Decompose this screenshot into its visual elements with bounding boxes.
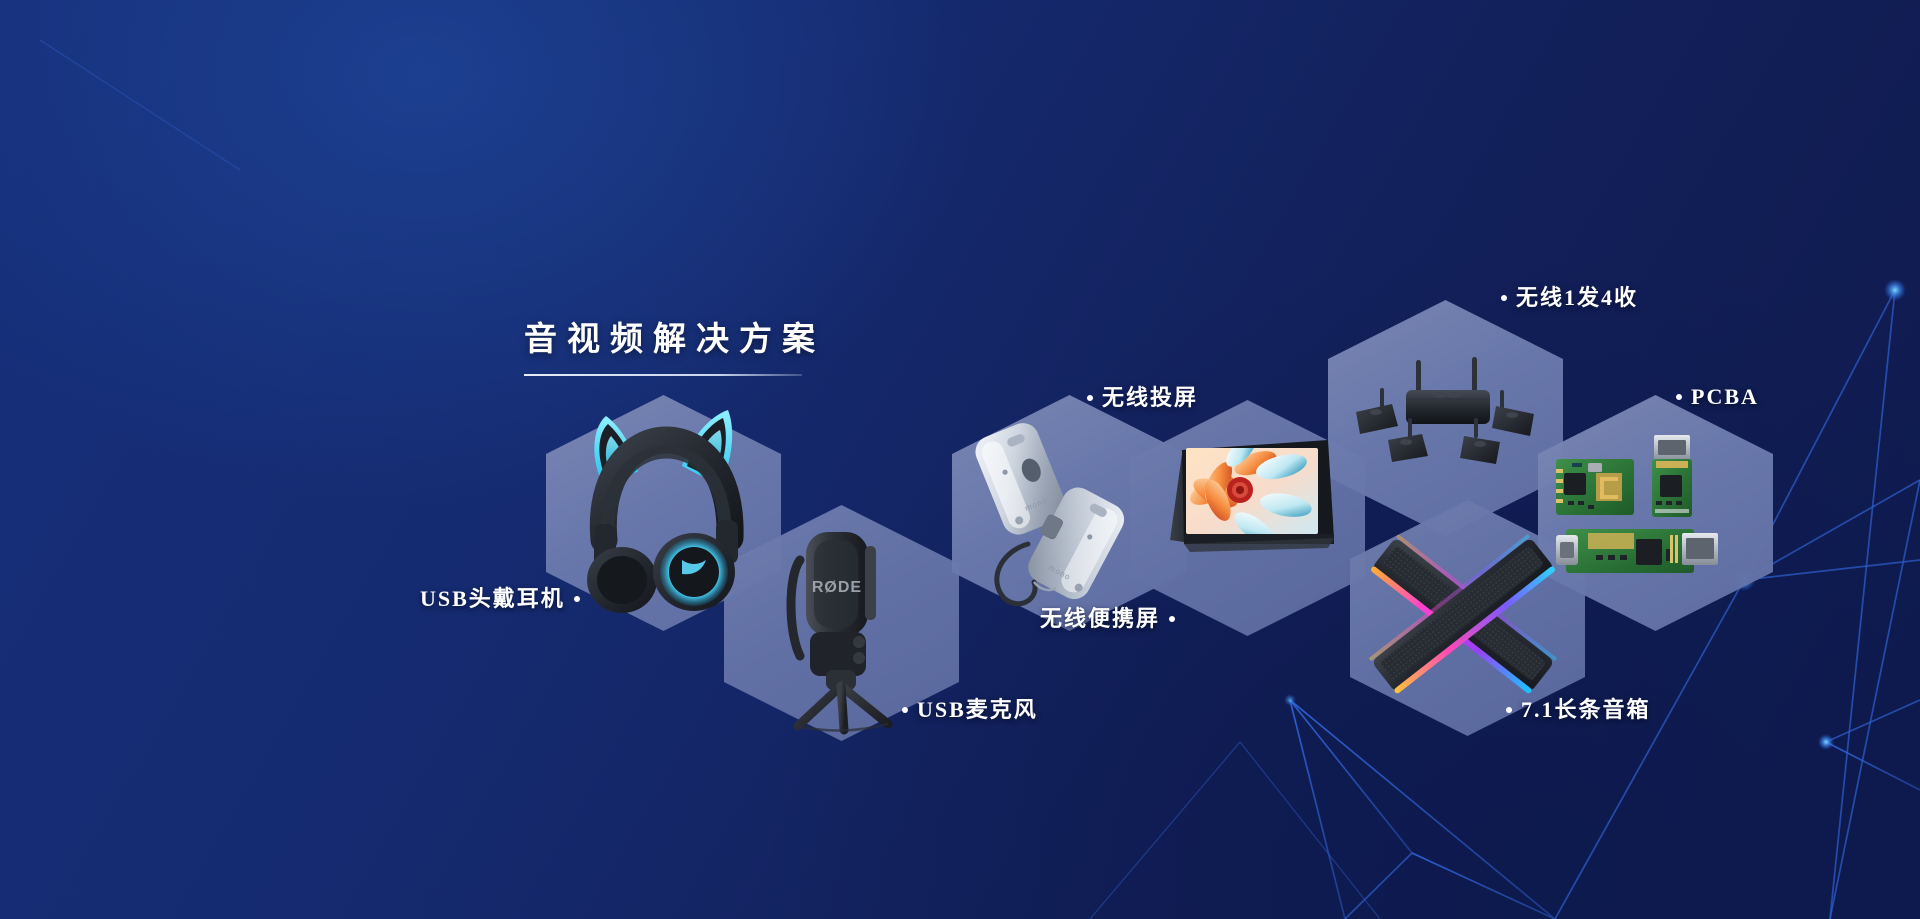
- bullet-dot-icon: [1087, 395, 1093, 401]
- product-label-wireless-portable-screen-text: 无线便携屏: [1040, 606, 1160, 631]
- product-label-soundbar-71-text: 7.1长条音箱: [1521, 697, 1651, 722]
- bullet-dot-icon: [902, 707, 908, 713]
- bullet-dot-icon: [1506, 707, 1512, 713]
- page-title-block: 音视频解决方案: [524, 312, 825, 376]
- bullet-dot-icon: [1676, 394, 1682, 400]
- product-label-wireless-casting[interactable]: 无线投屏: [1078, 380, 1198, 412]
- page-title: 音视频解决方案: [524, 312, 825, 360]
- product-label-usb-headset-text: USB头戴耳机: [420, 586, 565, 611]
- product-label-pcba[interactable]: PCBA: [1667, 384, 1759, 410]
- product-label-wireless-portable-screen[interactable]: 无线便携屏: [1040, 601, 1184, 633]
- product-label-soundbar-71[interactable]: 7.1长条音箱: [1497, 692, 1651, 724]
- banner-stage: 音视频解决方案: [0, 0, 1920, 919]
- bullet-dot-icon: [1169, 616, 1175, 622]
- bullet-dot-icon: [1501, 295, 1507, 301]
- product-label-pcba-text: PCBA: [1691, 384, 1759, 409]
- product-label-wireless-1t4r-text: 无线1发4收: [1516, 285, 1638, 310]
- bullet-dot-icon: [574, 596, 580, 602]
- product-label-wireless-casting-text: 无线投屏: [1102, 385, 1198, 410]
- product-label-usb-microphone[interactable]: USB麦克风: [893, 692, 1038, 724]
- product-label-usb-microphone-text: USB麦克风: [917, 697, 1038, 722]
- product-label-wireless-1t4r[interactable]: 无线1发4收: [1492, 280, 1638, 312]
- title-underline: [524, 374, 802, 376]
- product-label-usb-headset[interactable]: USB头戴耳机: [420, 581, 589, 613]
